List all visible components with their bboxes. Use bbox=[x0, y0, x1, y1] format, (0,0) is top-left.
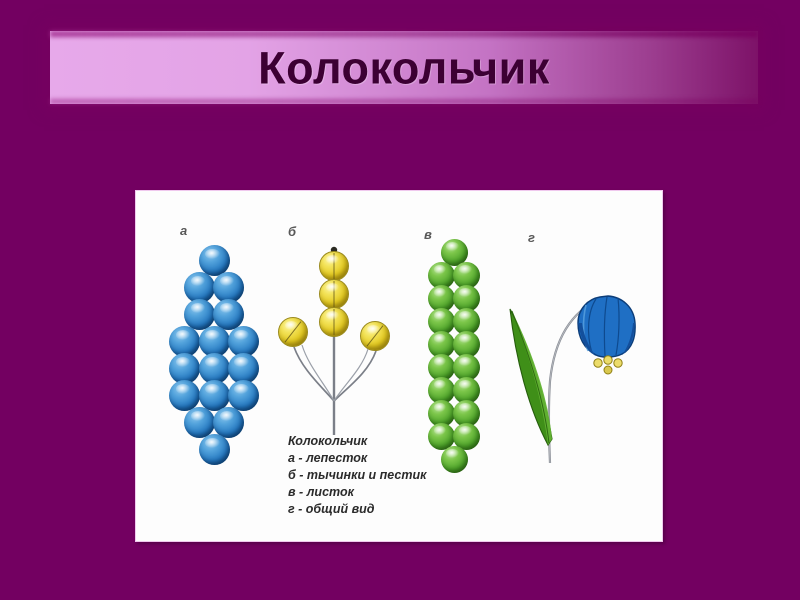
bead bbox=[441, 446, 468, 473]
pistil-bead bbox=[319, 279, 349, 309]
caption-line-v: в - листок bbox=[288, 484, 426, 501]
stamen-bead bbox=[360, 321, 390, 351]
bead bbox=[199, 434, 230, 465]
title-banner: Колокольчик bbox=[50, 31, 758, 104]
pistil-bead bbox=[319, 251, 349, 281]
caption-title: Колокольчик bbox=[288, 433, 426, 450]
illustration-panel: а б в г bbox=[135, 190, 663, 542]
bead bbox=[228, 380, 259, 411]
flower-stamen-beads bbox=[594, 356, 622, 374]
pistil-bead bbox=[319, 307, 349, 337]
figure-label-b: б bbox=[288, 224, 296, 239]
whole-plant-svg bbox=[504, 239, 659, 469]
caption-line-b: б - тычинки и пестик bbox=[288, 467, 426, 484]
whole-plant-diagram bbox=[504, 239, 659, 469]
stamen-bead bbox=[278, 317, 308, 347]
page-title: Колокольчик bbox=[50, 45, 758, 90]
caption-line-g: г - общий вид bbox=[288, 501, 426, 518]
figure-label-a: а bbox=[180, 223, 187, 238]
caption-block: Колокольчик а - лепесток б - тычинки и п… bbox=[288, 433, 426, 518]
petal-bead-diagram bbox=[158, 245, 268, 495]
stamens-pistil-bead-diagram bbox=[276, 239, 396, 439]
caption-line-a: а - лепесток bbox=[288, 450, 426, 467]
